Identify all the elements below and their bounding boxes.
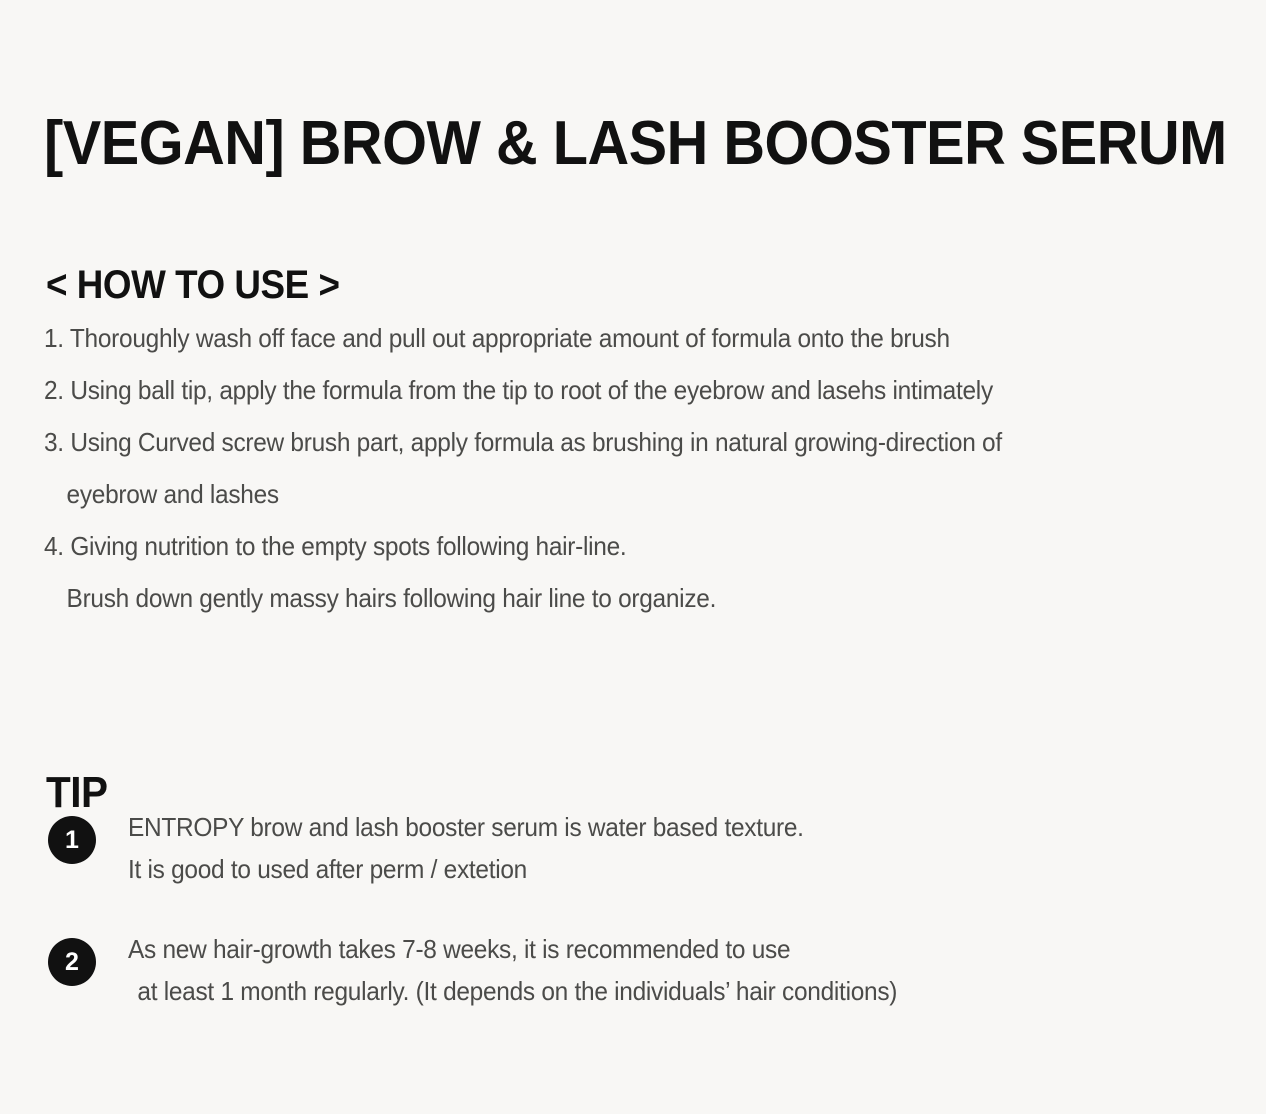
tip-number-badge-1: 1 — [48, 816, 96, 864]
tip-item-1: 1 ENTROPY brow and lash booster serum is… — [44, 806, 1224, 890]
how-to-use-step-4: 4. Giving nutrition to the empty spots f… — [44, 520, 1153, 572]
tip-1-line-1: ENTROPY brow and lash booster serum is w… — [128, 806, 1158, 848]
how-to-use-heading: < HOW TO USE > — [46, 261, 339, 309]
tip-text-2: As new hair-growth takes 7-8 weeks, it i… — [128, 928, 1224, 1012]
tip-2-line-2: at least 1 month regularly. (It depends … — [128, 970, 1158, 1012]
how-to-use-step-3: 3. Using Curved screw brush part, apply … — [44, 416, 1153, 468]
how-to-use-step-2: 2. Using ball tip, apply the formula fro… — [44, 364, 1153, 416]
product-detail-page: [VEGAN] BROW & LASH BOOSTER SERUM < HOW … — [0, 0, 1266, 1114]
how-to-use-list: 1. Thoroughly wash off face and pull out… — [44, 312, 1224, 624]
tip-2-line-1: As new hair-growth takes 7-8 weeks, it i… — [128, 928, 1158, 970]
how-to-use-step-4-continued: Brush down gently massy hairs following … — [44, 572, 1153, 624]
tip-1-line-2: It is good to used after perm / extetion — [128, 848, 1158, 890]
how-to-use-step-3-continued: eyebrow and lashes — [44, 468, 1153, 520]
how-to-use-step-1: 1. Thoroughly wash off face and pull out… — [44, 312, 1153, 364]
tip-number-badge-2: 2 — [48, 938, 96, 986]
page-title: [VEGAN] BROW & LASH BOOSTER SERUM — [44, 108, 1227, 180]
tip-item-2: 2 As new hair-growth takes 7-8 weeks, it… — [44, 928, 1224, 1012]
tip-text-1: ENTROPY brow and lash booster serum is w… — [128, 806, 1224, 890]
